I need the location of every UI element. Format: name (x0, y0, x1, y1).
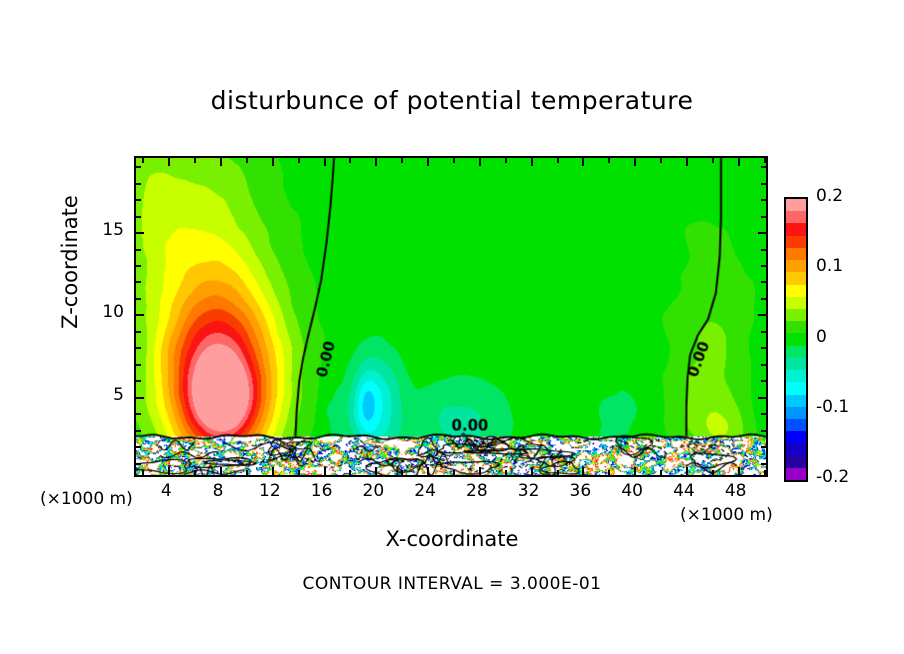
x-tick-24 (427, 158, 429, 166)
x-minor-tick (712, 470, 714, 475)
x-tick-label-44: 44 (664, 481, 704, 501)
y-minor-tick (761, 364, 766, 366)
x-tick-32 (531, 158, 533, 166)
y-minor-tick (761, 430, 766, 432)
colorbar-band-6 (786, 272, 806, 284)
y-minor-tick (761, 216, 766, 218)
colorbar-band-22 (786, 468, 806, 480)
plot-area (134, 156, 768, 477)
colorbar-tick-label-4: -0.2 (816, 467, 849, 487)
colorbar-band-8 (786, 297, 806, 309)
contour-interval-note: CONTOUR INTERVAL = 3.000E-01 (0, 574, 904, 594)
x-tick-12 (272, 158, 274, 166)
y-minor-tick (136, 364, 141, 366)
colorbar-band-1 (786, 211, 806, 223)
x-tick-label-16: 16 (302, 481, 342, 501)
y-minor-tick (761, 463, 766, 465)
colorbar-band-4 (786, 248, 806, 260)
y-minor-tick (761, 413, 766, 415)
x-minor-tick (608, 470, 610, 475)
x-tick-label-32: 32 (509, 481, 549, 501)
colorbar-band-0 (786, 199, 806, 211)
contour-field-canvas (136, 158, 766, 475)
colorbar-band-3 (786, 236, 806, 248)
colorbar-tick-label-1: 0.1 (816, 256, 843, 276)
y-minor-tick (761, 265, 766, 267)
x-minor-tick (453, 470, 455, 475)
colorbar-band-14 (786, 370, 806, 382)
x-tick-12 (272, 467, 274, 475)
x-minor-tick (608, 158, 610, 163)
colorbar-band-18 (786, 419, 806, 431)
y-minor-tick (136, 446, 141, 448)
x-tick-8 (220, 158, 222, 166)
colorbar-band-21 (786, 456, 806, 468)
y-minor-tick (761, 380, 766, 382)
y-minor-tick (761, 446, 766, 448)
x-minor-tick (194, 158, 196, 163)
y-minor-tick (136, 183, 141, 185)
y-minor-tick (761, 166, 766, 168)
x-tick-24 (427, 467, 429, 475)
x-minor-tick (712, 158, 714, 163)
colorbar-band-16 (786, 395, 806, 407)
colorbar-band-13 (786, 358, 806, 370)
colorbar-tick-label-2: 0 (816, 327, 827, 347)
y-axis-title: Z-coordinate (58, 152, 82, 372)
page-title: disturbunce of potential temperature (0, 86, 904, 115)
x-minor-tick (194, 470, 196, 475)
x-tick-label-40: 40 (612, 481, 652, 501)
x-minor-tick (505, 158, 507, 163)
colorbar-band-10 (786, 321, 806, 333)
x-tick-36 (582, 158, 584, 166)
x-minor-tick (764, 470, 766, 475)
y-minor-tick (761, 183, 766, 185)
y-minor-tick (136, 265, 141, 267)
x-tick-28 (479, 467, 481, 475)
y-minor-tick (136, 347, 141, 349)
y-minor-tick (136, 199, 141, 201)
y-tick-15 (758, 232, 766, 234)
y-minor-tick (761, 281, 766, 283)
colorbar-tick-label-0: 0.2 (816, 186, 843, 206)
x-tick-16 (324, 158, 326, 166)
y-tick-label-10: 10 (84, 302, 124, 322)
x-tick-label-20: 20 (353, 481, 393, 501)
x-minor-tick (505, 470, 507, 475)
x-minor-tick (142, 470, 144, 475)
colorbar (784, 197, 808, 482)
x-tick-44 (686, 158, 688, 166)
x-tick-label-8: 8 (198, 481, 238, 501)
colorbar-band-20 (786, 443, 806, 455)
y-tick-15 (136, 232, 144, 234)
x-minor-tick (401, 470, 403, 475)
x-tick-16 (324, 467, 326, 475)
colorbar-band-12 (786, 346, 806, 358)
x-minor-tick (298, 470, 300, 475)
x-tick-20 (375, 158, 377, 166)
y-minor-tick (136, 166, 141, 168)
x-minor-tick (660, 158, 662, 163)
x-tick-48 (738, 158, 740, 166)
colorbar-band-7 (786, 285, 806, 297)
y-minor-tick (136, 298, 141, 300)
colorbar-band-2 (786, 223, 806, 235)
x-minor-tick (401, 158, 403, 163)
y-tick-10 (136, 314, 144, 316)
y-minor-tick (761, 331, 766, 333)
y-minor-tick (136, 249, 141, 251)
x-tick-32 (531, 467, 533, 475)
x-axis-title: X-coordinate (0, 527, 904, 551)
x-tick-label-36: 36 (560, 481, 600, 501)
y-minor-tick (761, 199, 766, 201)
x-tick-20 (375, 467, 377, 475)
x-minor-tick (764, 158, 766, 163)
x-tick-36 (582, 467, 584, 475)
x-tick-label-48: 48 (716, 481, 756, 501)
y-minor-tick (136, 216, 141, 218)
y-tick-10 (758, 314, 766, 316)
x-minor-tick (349, 470, 351, 475)
y-minor-tick (136, 331, 141, 333)
y-minor-tick (136, 463, 141, 465)
x-tick-4 (168, 467, 170, 475)
colorbar-band-15 (786, 382, 806, 394)
y-minor-tick (761, 249, 766, 251)
x-tick-44 (686, 467, 688, 475)
y-minor-tick (761, 347, 766, 349)
y-tick-label-15: 15 (84, 220, 124, 240)
x-minor-tick (557, 470, 559, 475)
colorbar-band-5 (786, 260, 806, 272)
colorbar-band-11 (786, 333, 806, 345)
x-tick-label-12: 12 (250, 481, 290, 501)
y-minor-tick (136, 281, 141, 283)
y-tick-5 (758, 397, 766, 399)
x-tick-label-4: 4 (146, 481, 186, 501)
y-minor-tick (136, 430, 141, 432)
y-minor-tick (136, 413, 141, 415)
colorbar-band-9 (786, 309, 806, 321)
x-tick-28 (479, 158, 481, 166)
x-minor-tick (557, 158, 559, 163)
x-tick-48 (738, 467, 740, 475)
y-axis-unit: (×1000 m) (40, 489, 133, 509)
y-minor-tick (136, 380, 141, 382)
colorbar-band-19 (786, 431, 806, 443)
x-minor-tick (453, 158, 455, 163)
x-minor-tick (142, 158, 144, 163)
x-tick-label-28: 28 (457, 481, 497, 501)
x-tick-label-24: 24 (405, 481, 445, 501)
x-tick-8 (220, 467, 222, 475)
x-tick-4 (168, 158, 170, 166)
y-tick-5 (136, 397, 144, 399)
x-minor-tick (246, 158, 248, 163)
x-minor-tick (298, 158, 300, 163)
colorbar-tick-label-3: -0.1 (816, 397, 849, 417)
colorbar-band-17 (786, 407, 806, 419)
y-minor-tick (761, 298, 766, 300)
x-minor-tick (660, 470, 662, 475)
y-tick-label-5: 5 (84, 385, 124, 405)
x-minor-tick (246, 470, 248, 475)
x-tick-40 (634, 158, 636, 166)
x-axis-unit: (×1000 m) (680, 505, 773, 525)
x-tick-40 (634, 467, 636, 475)
x-minor-tick (349, 158, 351, 163)
